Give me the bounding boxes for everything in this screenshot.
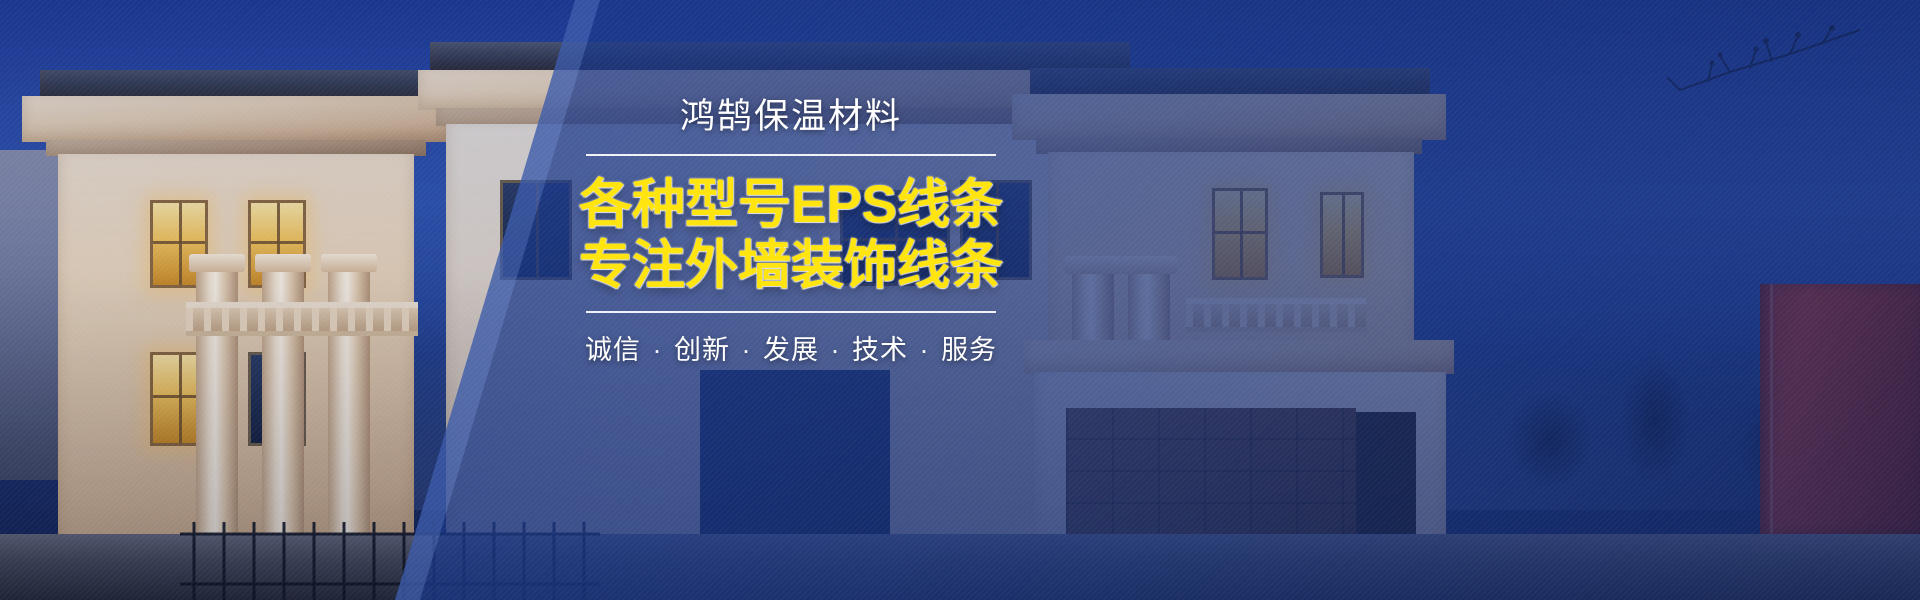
headline-line-1: 各种型号EPS线条 (579, 175, 1003, 234)
tagline-separator: · (649, 335, 665, 365)
headline-line-2: 专注外墙装饰线条 (556, 235, 1026, 296)
tagline-separator: · (917, 335, 933, 365)
divider-bottom (586, 311, 996, 313)
tagline-item: 诚信 (585, 335, 641, 365)
tagline-item: 创新 (674, 335, 730, 365)
tagline-item: 服务 (941, 335, 997, 365)
tagline-item: 技术 (852, 335, 908, 365)
tagline: 诚信 · 创新 · 发展 · 技术 · 服务 (556, 328, 1026, 367)
tagline-separator: · (828, 335, 844, 365)
tagline-item: 发展 (763, 335, 819, 365)
hero-banner: 鸿鹄保温材料 各种型号EPS线条 专注外墙装饰线条 诚信 · 创新 · 发展 ·… (0, 0, 1920, 600)
divider-top (586, 154, 996, 156)
brand-name: 鸿鹄保温材料 (556, 96, 1026, 138)
tagline-separator: · (738, 335, 754, 365)
headline: 各种型号EPS线条 专注外墙装饰线条 (556, 174, 1026, 297)
banner-text-block: 鸿鹄保温材料 各种型号EPS线条 专注外墙装饰线条 诚信 · 创新 · 发展 ·… (556, 96, 1026, 367)
